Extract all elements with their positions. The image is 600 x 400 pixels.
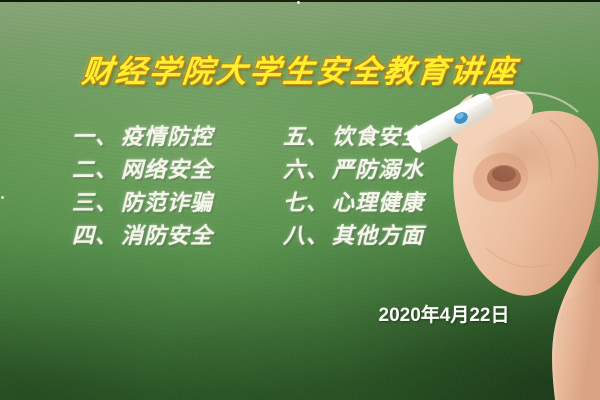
list-item: 二、 网络安全 — [72, 151, 213, 184]
list-item-label: 疫情防控 — [121, 119, 213, 151]
list-item-label: 防范诈骗 — [121, 185, 213, 217]
list-item: 三、 防范诈骗 — [72, 184, 213, 217]
list-item-number: 六、 — [283, 152, 329, 184]
list-item-number: 四、 — [72, 218, 118, 250]
list-item-number: 二、 — [72, 152, 118, 184]
list-item-number: 一、 — [72, 119, 118, 151]
chalk-dust-speck — [1, 196, 4, 199]
chalkboard-scene: 财经学院大学生安全教育讲座 一、 疫情防控 二、 网络安全 三、 防范诈骗 四、… — [0, 0, 600, 400]
hand-with-chalk — [400, 58, 600, 400]
list-item: 四、 消防安全 — [72, 217, 213, 250]
chalk-dust-speck — [297, 1, 300, 4]
topic-column-left: 一、 疫情防控 二、 网络安全 三、 防范诈骗 四、 消防安全 — [72, 118, 213, 250]
chalkboard-top-edge — [0, 0, 600, 2]
list-item-number: 七、 — [283, 185, 329, 217]
list-item-label: 网络安全 — [121, 152, 213, 184]
list-item: 一、 疫情防控 — [72, 118, 213, 151]
list-item-number: 三、 — [72, 185, 118, 217]
list-item-number: 五、 — [283, 119, 329, 151]
list-item-label: 消防安全 — [121, 218, 213, 250]
list-item-number: 八、 — [283, 218, 329, 250]
